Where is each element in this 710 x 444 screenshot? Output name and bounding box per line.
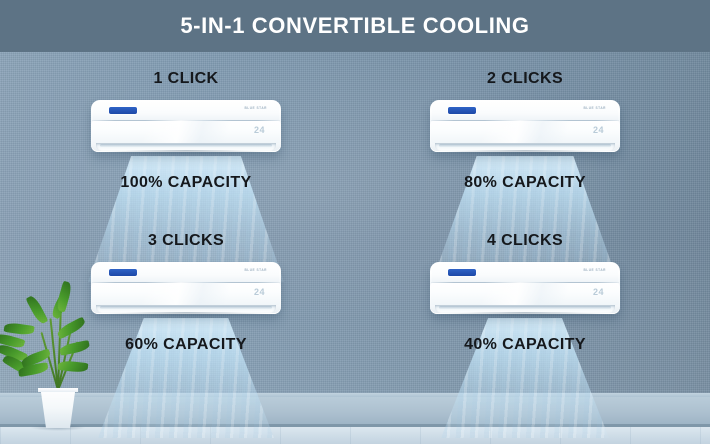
capacity-label-1: 100% CAPACITY (91, 174, 281, 192)
header-bar: 5-IN-1 CONVERTIBLE COOLING (0, 0, 710, 52)
brand-text-1: BLUE STAR (244, 106, 267, 110)
temperature-display-1: 24 (254, 125, 265, 135)
click-label-1: 1 CLICK (91, 70, 281, 88)
ac-unit-block-2: 2 CLICKS BLUE STAR 24 80% CAPACITY (430, 70, 620, 250)
brand-text-3: BLUE STAR (244, 268, 267, 272)
brand-logo-icon-3 (109, 269, 137, 276)
ac-unit-block-4: 4 CLICKS BLUE STAR 24 40% CAPACITY (430, 232, 620, 412)
ac-unit-1[interactable]: BLUE STAR 24 (91, 100, 281, 160)
click-label-3: 3 CLICKS (91, 232, 281, 250)
floor-plank-lines (0, 427, 710, 444)
potted-plant (14, 300, 100, 428)
temperature-display-2: 24 (593, 125, 604, 135)
capacity-label-4: 40% CAPACITY (430, 336, 620, 354)
page-title: 5-IN-1 CONVERTIBLE COOLING (180, 13, 529, 39)
pot-rim (38, 388, 78, 392)
scene-root: 5-IN-1 CONVERTIBLE COOLING 1 CLICK BLUE … (0, 0, 710, 444)
ac-unit-block-3: 3 CLICKS BLUE STAR 24 60% CAPACITY (91, 232, 281, 412)
ac-unit-4[interactable]: BLUE STAR 24 (430, 262, 620, 322)
floor (0, 427, 710, 444)
brand-text-2: BLUE STAR (583, 106, 606, 110)
brand-logo-icon-4 (448, 269, 476, 276)
temperature-display-3: 24 (254, 287, 265, 297)
brand-logo-icon-1 (109, 107, 137, 114)
temperature-display-4: 24 (593, 287, 604, 297)
brand-text-4: BLUE STAR (583, 268, 606, 272)
baseboard-shadow-line (0, 424, 710, 427)
click-label-4: 4 CLICKS (430, 232, 620, 250)
ac-unit-block-1: 1 CLICK BLUE STAR 24 100% CAPACITY (91, 70, 281, 250)
ac-unit-2[interactable]: BLUE STAR 24 (430, 100, 620, 160)
click-label-2: 2 CLICKS (430, 70, 620, 88)
ac-unit-3[interactable]: BLUE STAR 24 (91, 262, 281, 322)
brand-logo-icon-2 (448, 107, 476, 114)
capacity-label-2: 80% CAPACITY (430, 174, 620, 192)
flower-pot (38, 388, 78, 428)
capacity-label-3: 60% CAPACITY (91, 336, 281, 354)
leaf-icon (59, 340, 90, 356)
